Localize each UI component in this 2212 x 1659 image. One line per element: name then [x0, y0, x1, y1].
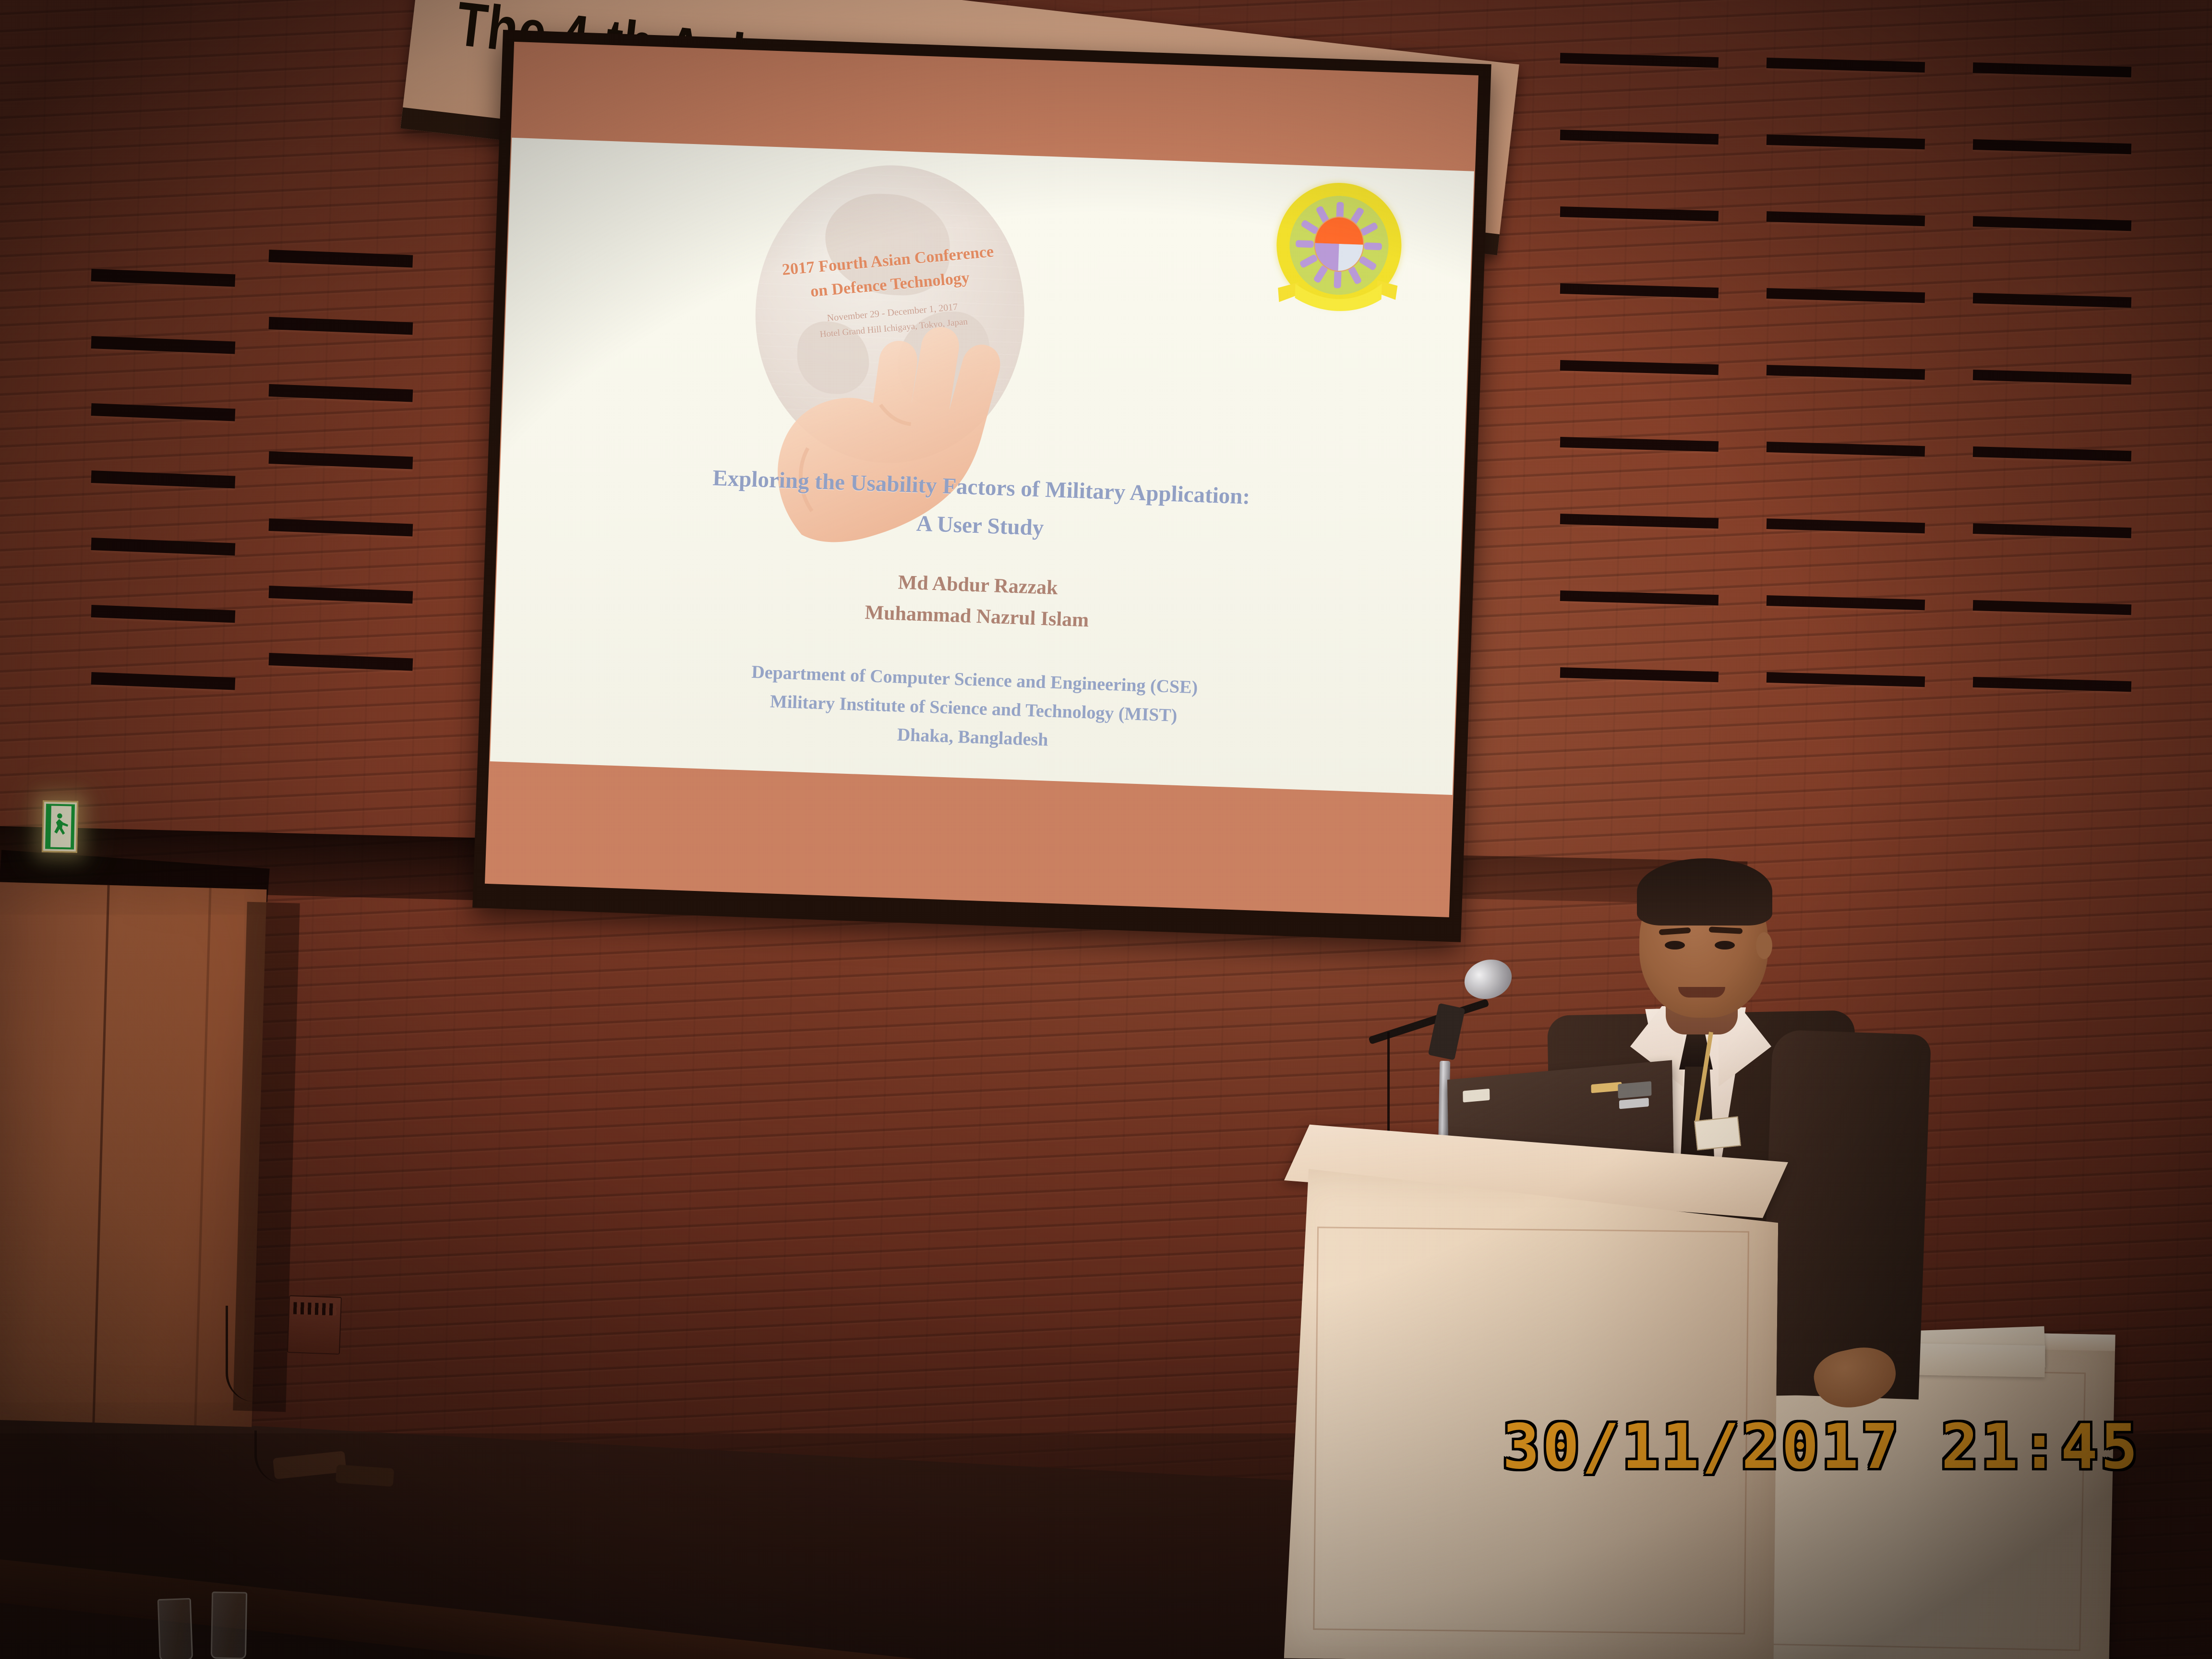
eye-left	[1665, 941, 1685, 950]
camera-timestamp: 30/11/2017 21:45	[1503, 1411, 2140, 1483]
name-badge	[1694, 1116, 1741, 1150]
emblem-core-right	[1338, 244, 1363, 271]
hair	[1637, 858, 1772, 926]
drinking-glass	[211, 1591, 247, 1659]
running-man-icon	[50, 806, 72, 848]
emblem-ribbon	[1257, 270, 1418, 318]
outlet-vent-grille	[293, 1302, 337, 1316]
emblem-core	[1313, 216, 1365, 272]
suit-arm-right	[1760, 1029, 1931, 1399]
wall-outlet-plate	[287, 1295, 342, 1355]
mouth	[1678, 987, 1725, 998]
projection-surface: 2017 Fourth Asian Conference on Defence …	[485, 42, 1479, 917]
eye-right	[1715, 941, 1735, 950]
emblem-ribbon-svg	[1257, 270, 1418, 318]
laptop-sticker	[1618, 1081, 1651, 1098]
laptop-sticker	[1463, 1089, 1490, 1103]
projection-screen: 2017 Fourth Asian Conference on Defence …	[472, 30, 1491, 942]
conference-presentation-photo: The 4-th Asian Conference 2017 Fourth As…	[0, 0, 2212, 1659]
mist-emblem	[1274, 181, 1404, 310]
emblem-core-left	[1314, 243, 1339, 271]
presentation-slide: 2017 Fourth Asian Conference on Defence …	[490, 138, 1474, 795]
partition-seam	[194, 888, 211, 1426]
ear	[1756, 932, 1772, 959]
exit-sign-inner-panel	[50, 806, 72, 848]
laptop-sticker	[1591, 1082, 1622, 1094]
emblem-core-top	[1315, 217, 1364, 245]
drinking-glass	[157, 1598, 193, 1659]
emergency-exit-sign	[42, 800, 78, 853]
power-cable	[226, 1306, 293, 1402]
laptop-sticker	[1619, 1098, 1649, 1109]
partition-seam	[92, 885, 109, 1423]
